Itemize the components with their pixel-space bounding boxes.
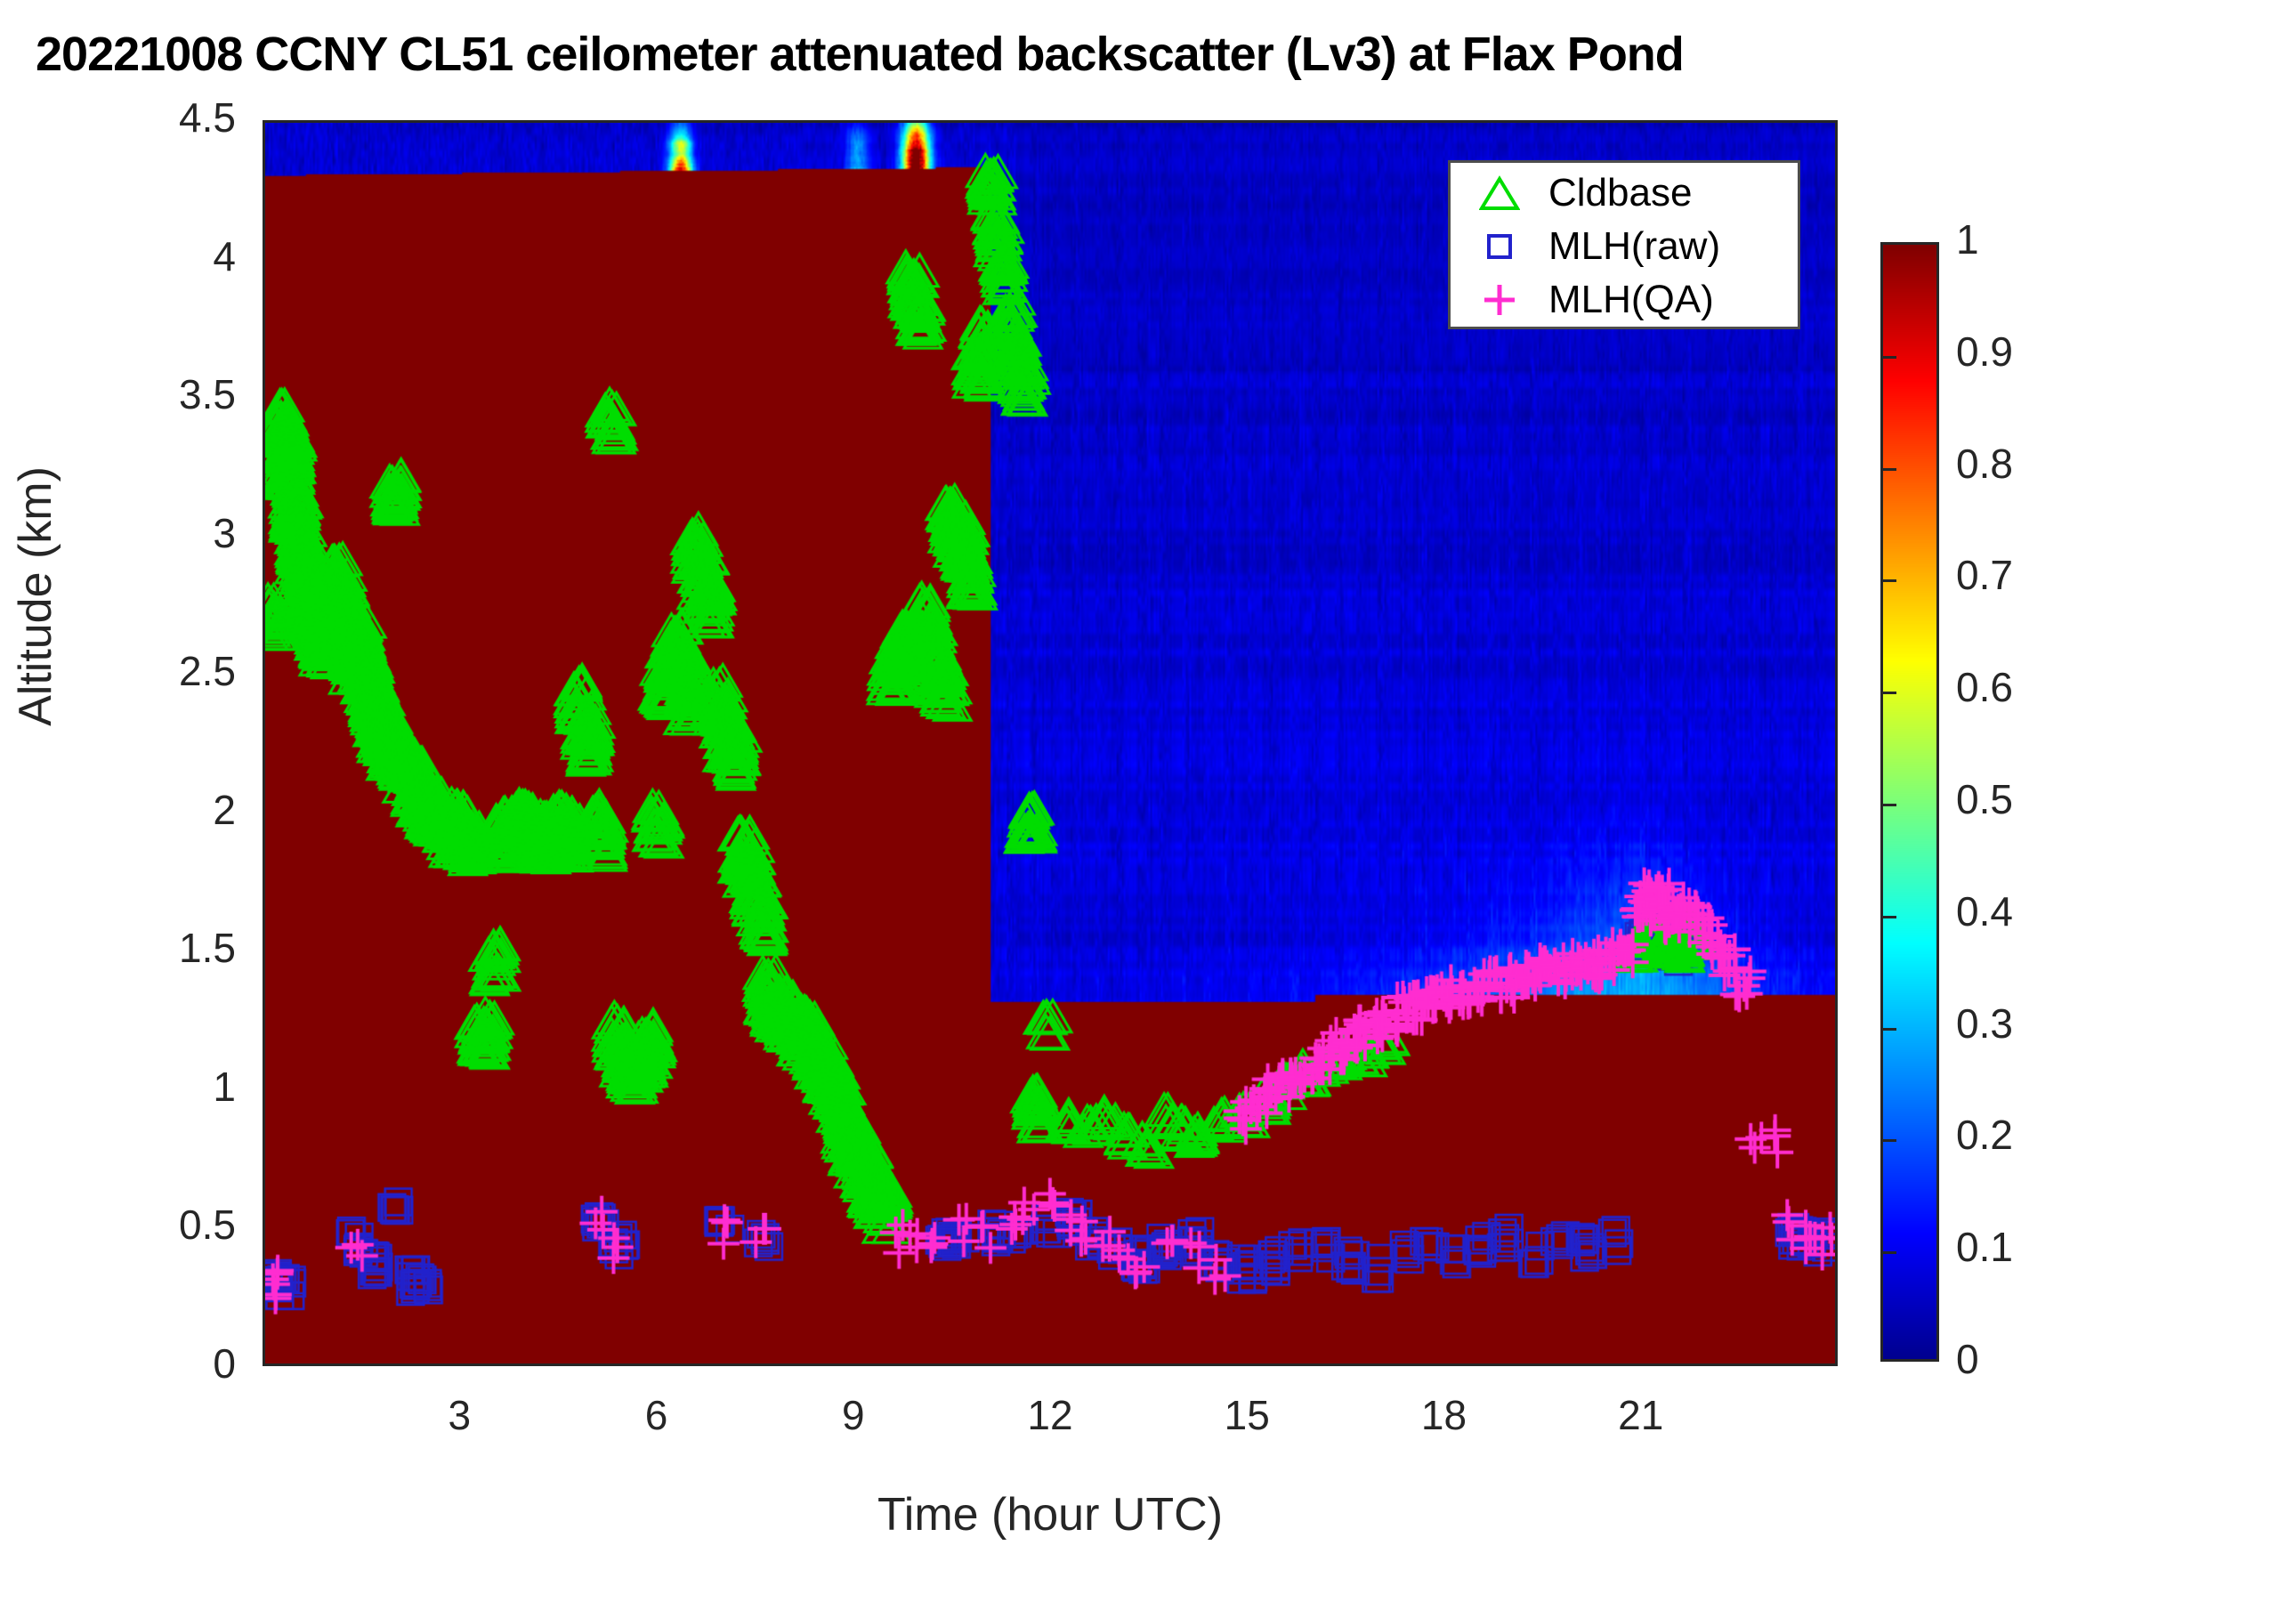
x-tick bbox=[1446, 1363, 1449, 1366]
colorbar-tick bbox=[1883, 1028, 1896, 1031]
colorbar-tick-label: 0 bbox=[1956, 1335, 1979, 1383]
y-tick-label: 4 bbox=[58, 232, 236, 280]
x-tick-label: 21 bbox=[1552, 1391, 1730, 1439]
legend-item-mlh-qa[interactable]: MLH(QA) bbox=[1451, 273, 1798, 327]
colorbar-tick bbox=[1883, 916, 1896, 918]
y-tick-label: 0.5 bbox=[58, 1201, 236, 1249]
legend: Cldbase MLH(raw) MLH(QA) bbox=[1448, 160, 1800, 329]
y-axis-label: Altitude (km) bbox=[9, 62, 62, 1130]
colorbar-tick bbox=[1883, 579, 1896, 582]
y-tick-label: 1.5 bbox=[58, 924, 236, 972]
y-tick bbox=[263, 1229, 265, 1232]
colorbar-tick bbox=[1883, 692, 1896, 694]
ceilometer-backscatter-figure: 20221008 CCNY CL51 ceilometer attenuated… bbox=[0, 0, 2296, 1602]
square-marker-icon bbox=[1451, 231, 1548, 262]
x-axis-label: Time (hour UTC) bbox=[263, 1488, 1838, 1541]
x-tick bbox=[1052, 1363, 1055, 1366]
x-tick-label: 6 bbox=[568, 1391, 746, 1439]
y-tick bbox=[263, 399, 265, 401]
y-tick bbox=[263, 1091, 265, 1094]
y-tick bbox=[263, 814, 265, 817]
x-tick-label: 18 bbox=[1355, 1391, 1533, 1439]
colorbar-tick-label: 0.9 bbox=[1956, 328, 2013, 376]
y-tick bbox=[263, 122, 265, 125]
colorbar-tick-label: 0.6 bbox=[1956, 663, 2013, 711]
x-tick bbox=[1249, 1363, 1251, 1366]
colorbar-tick bbox=[1883, 1139, 1896, 1142]
colorbar-tick bbox=[1883, 468, 1896, 471]
colorbar-tick-label: 1 bbox=[1956, 215, 1979, 263]
colorbar-tick-label: 0.5 bbox=[1956, 775, 2013, 823]
colorbar-tick-label: 0.2 bbox=[1956, 1111, 2013, 1159]
x-tick-label: 3 bbox=[370, 1391, 548, 1439]
y-tick-label: 3.5 bbox=[58, 370, 236, 418]
y-tick-label: 4.5 bbox=[58, 93, 236, 142]
page-title: 20221008 CCNY CL51 ceilometer attenuated… bbox=[36, 27, 2171, 82]
colorbar-tick bbox=[1883, 356, 1896, 359]
x-tick-label: 9 bbox=[764, 1391, 942, 1439]
y-tick-label: 2.5 bbox=[58, 647, 236, 695]
x-tick bbox=[659, 1363, 661, 1366]
x-tick bbox=[461, 1363, 464, 1366]
colorbar-tick-label: 0.4 bbox=[1956, 887, 2013, 935]
colorbar bbox=[1880, 242, 1939, 1362]
y-tick bbox=[263, 676, 265, 678]
x-tick-label: 15 bbox=[1158, 1391, 1336, 1439]
colorbar-tick-label: 0.1 bbox=[1956, 1223, 2013, 1271]
y-tick bbox=[263, 952, 265, 955]
legend-item-mlh-raw[interactable]: MLH(raw) bbox=[1451, 220, 1798, 273]
colorbar-tick-label: 0.3 bbox=[1956, 999, 2013, 1048]
legend-label-cldbase: Cldbase bbox=[1548, 174, 1692, 213]
colorbar-tick-label: 0.7 bbox=[1956, 551, 2013, 599]
legend-item-cldbase[interactable]: Cldbase bbox=[1451, 166, 1798, 220]
x-tick bbox=[855, 1363, 858, 1366]
triangle-marker-icon bbox=[1451, 174, 1548, 212]
colorbar-tick bbox=[1883, 1251, 1896, 1254]
y-tick bbox=[263, 261, 265, 263]
plus-marker-icon bbox=[1451, 281, 1548, 319]
y-tick-label: 1 bbox=[58, 1063, 236, 1111]
y-tick-label: 3 bbox=[58, 509, 236, 557]
colorbar-tick bbox=[1883, 804, 1896, 806]
legend-label-mlh-raw: MLH(raw) bbox=[1548, 227, 1720, 266]
y-tick bbox=[263, 538, 265, 540]
y-tick-label: 0 bbox=[58, 1339, 236, 1388]
legend-label-mlh-qa: MLH(QA) bbox=[1548, 280, 1714, 320]
x-tick-label: 12 bbox=[961, 1391, 1139, 1439]
y-tick-label: 2 bbox=[58, 786, 236, 834]
colorbar-gradient bbox=[1883, 245, 1936, 1359]
colorbar-tick-label: 0.8 bbox=[1956, 440, 2013, 488]
x-tick bbox=[1643, 1363, 1645, 1366]
